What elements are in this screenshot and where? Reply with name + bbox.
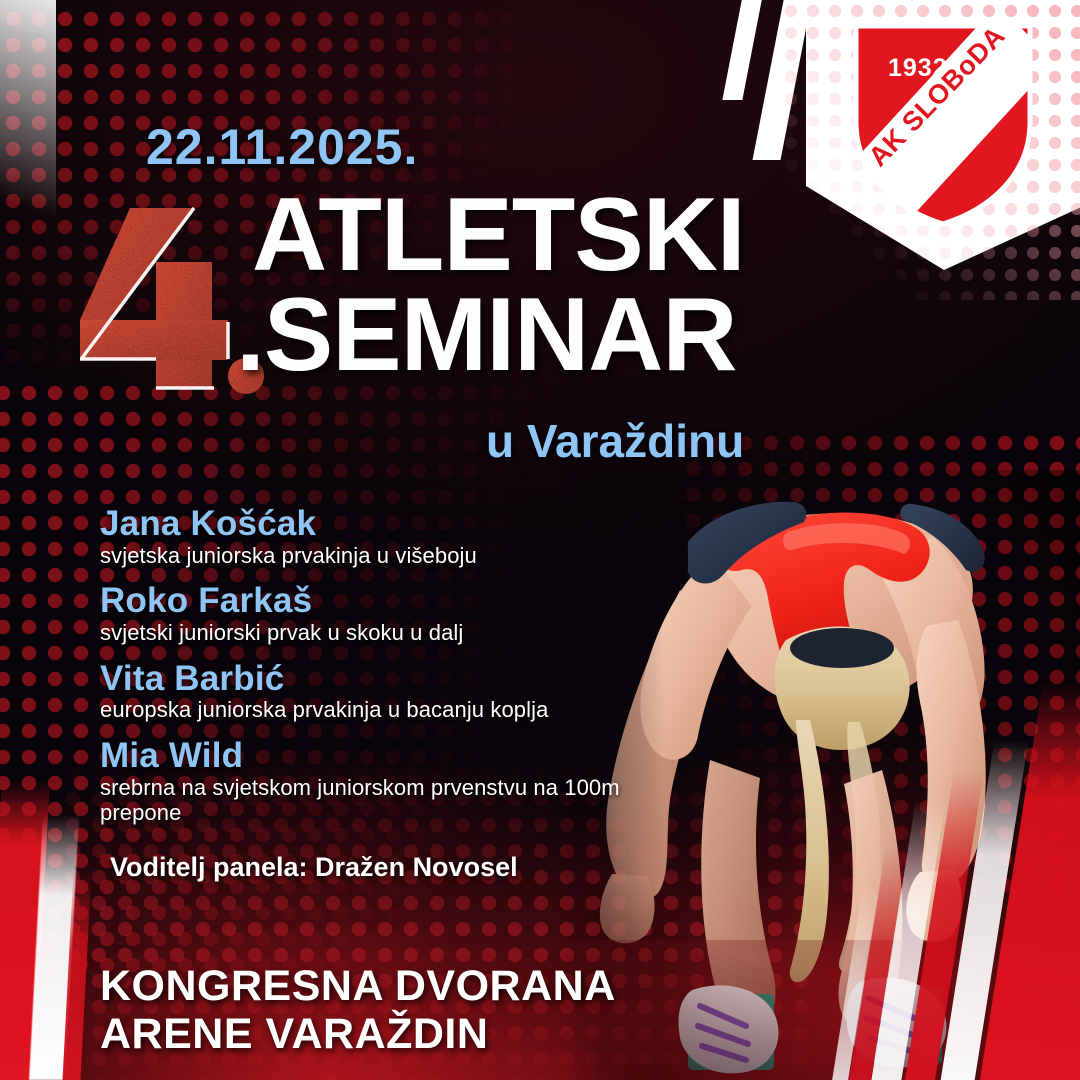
speaker-list: Jana Košćak svjetska juniorska prvakinja… [100, 505, 660, 883]
event-subtitle: u Varaždinu [486, 414, 744, 468]
title-line-2: .SEMINAR [236, 286, 745, 386]
list-item: Jana Košćak svjetska juniorska prvakinja… [100, 505, 660, 568]
list-item: Mia Wild srebrna na svjetskom juniorskom… [100, 737, 660, 826]
speaker-name: Mia Wild [100, 737, 660, 775]
venue-line-2: ARENE VARAŽDIN [100, 1010, 616, 1058]
speaker-description: svjetska juniorska prvakinja u višeboju [100, 543, 660, 569]
list-item: Vita Barbić europska juniorska prvakinja… [100, 660, 660, 723]
speaker-name: Vita Barbić [100, 660, 660, 698]
speaker-name: Roko Farkaš [100, 582, 660, 620]
title-line-1: ATLETSKI [252, 186, 745, 286]
speaker-description: srebrna na svjetskom juniorskom prvenstv… [100, 775, 660, 826]
venue-block: KONGRESNA DVORANA ARENE VARAŽDIN [100, 962, 616, 1058]
panel-moderator: Voditelj panela: Dražen Novosel [110, 852, 660, 883]
event-title: ATLETSKI .SEMINAR [252, 186, 745, 386]
speaker-description: europska juniorska prvakinja u bacanju k… [100, 697, 660, 723]
speaker-description: svjetski juniorski prvak u skoku u dalj [100, 620, 660, 646]
event-poster: 1932 AK SLOBoDA VARAŽDIN 22.11.2025. [0, 0, 1080, 1080]
event-date: 22.11.2025. [146, 118, 418, 176]
speaker-name: Jana Košćak [100, 505, 660, 543]
venue-line-1: KONGRESNA DVORANA [100, 962, 616, 1010]
list-item: Roko Farkaš svjetski juniorski prvak u s… [100, 582, 660, 645]
